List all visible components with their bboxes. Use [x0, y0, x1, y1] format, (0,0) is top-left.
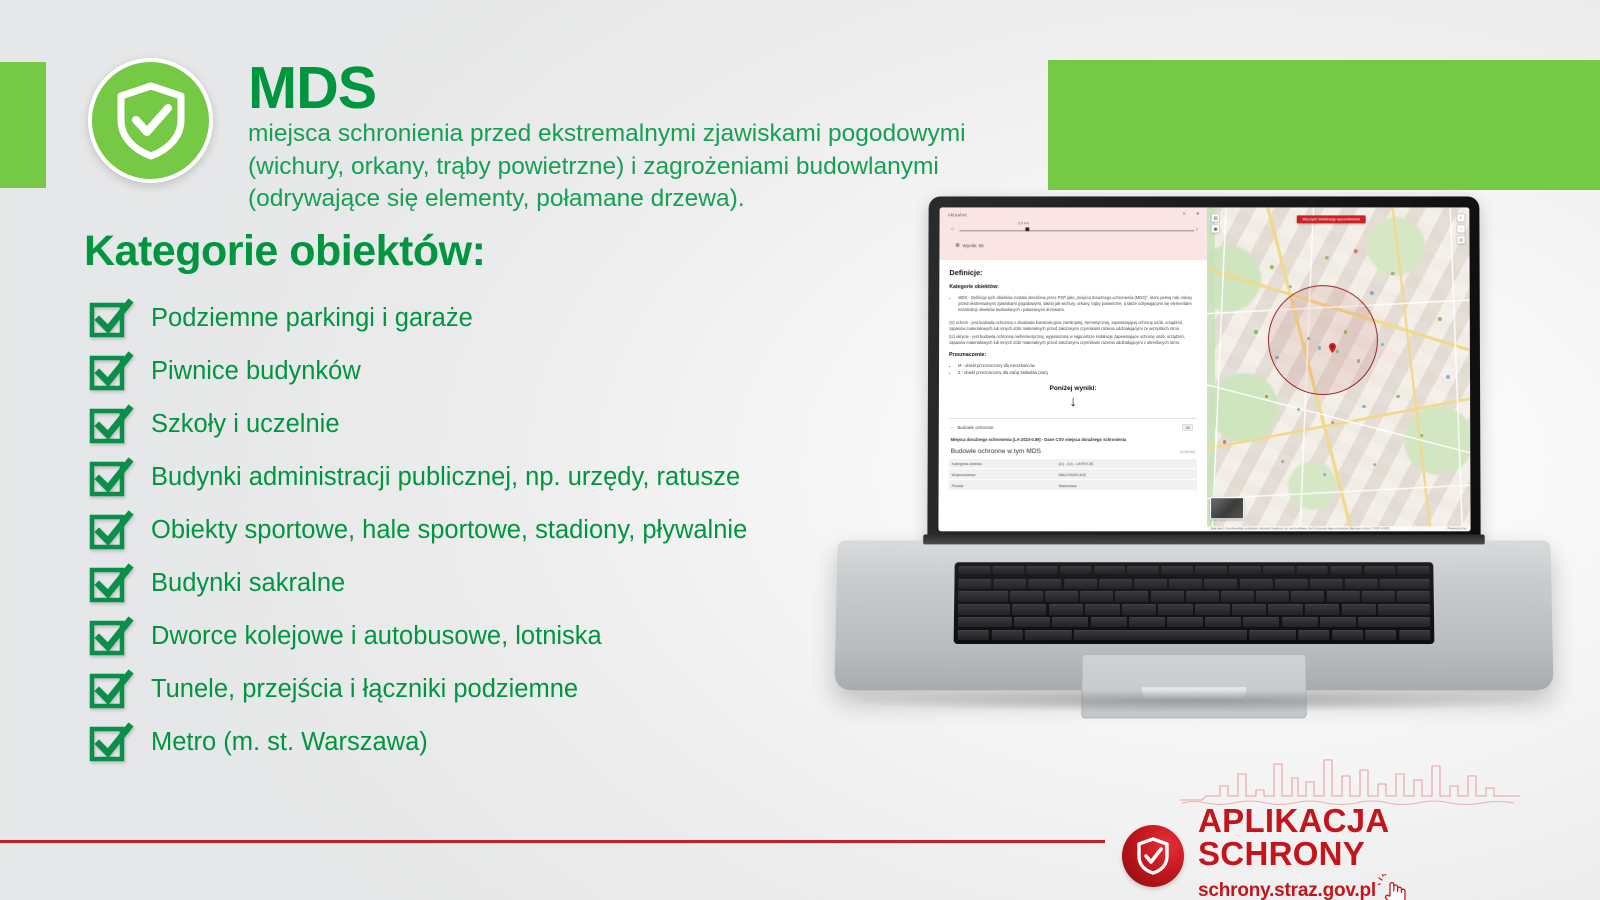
card-title-row: Budowle ochronne w tym MDS (0,05 km)	[949, 448, 1197, 459]
laptop-keyboard	[954, 562, 1435, 644]
minus-icon[interactable]: –	[951, 425, 953, 430]
basemap-thumbnail[interactable]	[1210, 497, 1244, 519]
subtitle-line-1: miejsca schronienia przed ekstremalnymi …	[248, 118, 966, 151]
locate-icon[interactable]: ◎	[1457, 235, 1466, 244]
laptop-shadow	[846, 690, 1546, 712]
definitions-heading: Definicje:	[949, 268, 1197, 277]
card-header-label: Budowle ochronne	[957, 425, 993, 430]
attributes-table: Kategoria obiektu (U) - (U) - UKRYCIE Wo…	[949, 459, 1198, 491]
panel-toolbar: Aktualne ✕ ▼ 0,5 km 0 2 ▦	[939, 207, 1207, 260]
laptop-hinge	[923, 534, 1485, 544]
card-subheader: Miejsca doraźnego schronienia (LA-2023-0…	[949, 431, 1197, 447]
shield-check-icon	[88, 58, 213, 183]
laptop-mockup: Aktualne ✕ ▼ 0,5 km 0 2 ▦	[836, 196, 1552, 736]
shield-check-icon	[1122, 825, 1184, 887]
laptop-screen: Aktualne ✕ ▼ 0,5 km 0 2 ▦	[938, 207, 1470, 531]
decor-bar-right	[1048, 60, 1600, 190]
definitions-bullet-list: MDS - Definicja tych obiektów została ok…	[958, 295, 1197, 313]
definition-bullet: MDS - Definicja tych obiektów została ok…	[958, 295, 1197, 313]
hand-pointer-icon	[1378, 874, 1412, 900]
card-distance: (0,05 km)	[1180, 450, 1195, 454]
filter-icon[interactable]: ▼	[1195, 212, 1200, 217]
table-row: Kategoria obiektu (U) - (U) - UKRYCIE	[949, 459, 1197, 469]
result-card: – Budowle ochronne 65 Miejsca doraźnego …	[949, 418, 1198, 491]
list-item: Metro (m. st. Warszawa)	[88, 716, 918, 769]
grid-icon: ▦	[955, 242, 959, 248]
slider-track[interactable]	[959, 230, 1194, 231]
checkbox-checked-icon	[88, 721, 134, 765]
table-row: Powiat Warszawa	[949, 480, 1198, 491]
results-heading: Poniżej wyniki:	[949, 385, 1197, 392]
categories-list: Podziemne parkingi i garaże Piwnice budy…	[88, 292, 918, 769]
arrow-down-icon: ↓	[949, 396, 1197, 408]
purpose-list: M - obiekt przeznaczony dla mieszkańców …	[958, 363, 1197, 376]
list-item-label: Budynki administracji publicznej, np. ur…	[151, 463, 740, 492]
definitions-body: Definicje: Kategorie obiektów: MDS - Def…	[939, 260, 1208, 491]
map-attribution-left: Map data © OpenStreetMap contributors, M…	[1211, 527, 1389, 530]
slider-value-label: 0,5 km	[1018, 221, 1029, 225]
map-attribution: Map data © OpenStreetMap contributors, M…	[1207, 526, 1470, 531]
table-cell-value: Warszawa	[1055, 480, 1197, 491]
checkbox-checked-icon	[88, 456, 134, 500]
checkbox-checked-icon	[88, 297, 134, 341]
brand-title: APLIKACJA SCHRONY	[1198, 804, 1552, 870]
footer-divider	[0, 840, 1105, 843]
results-row: ▦ Wyniki: 65	[947, 238, 1200, 254]
laptop-base	[834, 540, 1553, 690]
list-item: Dworce kolejowe i autobusowe, lotniska	[88, 610, 918, 663]
app-map[interactable]: Wyczyść lokalizację wyszukiwania ▤ ▣ + –…	[1207, 207, 1470, 531]
purpose-item: Z - obiekt przeznaczony dla załóg zakład…	[958, 370, 1197, 376]
checkbox-checked-icon	[88, 350, 134, 394]
card-header[interactable]: – Budowle ochronne 65	[949, 424, 1197, 431]
list-item-label: Podziemne parkingi i garaże	[151, 304, 473, 333]
table-cell-key: Powiat	[949, 480, 1056, 491]
list-item: Budynki administracji publicznej, np. ur…	[88, 451, 918, 504]
city-skyline-icon	[1180, 756, 1520, 808]
list-item: Szkoły i uczelnie	[88, 398, 918, 451]
minus-icon[interactable]: –	[1456, 224, 1465, 233]
definition-paragraph-ukrycie: (U) ukrycie - jest budowlą ochronną nieh…	[949, 334, 1197, 346]
table-cell-value: (U) - (U) - UKRYCIE	[1055, 459, 1197, 469]
list-item: Podziemne parkingi i garaże	[88, 292, 918, 345]
list-item: Tunele, przejścia i łączniki podziemne	[88, 663, 918, 716]
purpose-subheading: Przeznaczenie:	[949, 352, 1197, 358]
results-count-label: Wyniki: 65	[963, 243, 984, 248]
card-title: Budowle ochronne w tym MDS	[951, 448, 1041, 455]
table-cell-value: MAZOWIECKIE	[1055, 469, 1197, 480]
checkbox-checked-icon	[88, 615, 134, 659]
brand-row: APLIKACJA SCHRONY schrony.straz.gov.pl	[1122, 804, 1552, 900]
list-item-label: Metro (m. st. Warszawa)	[151, 728, 428, 757]
list-item-label: Budynki sakralne	[151, 569, 345, 598]
app-document-panel: Aktualne ✕ ▼ 0,5 km 0 2 ▦	[938, 207, 1207, 531]
categories-subheading: Kategorie obiektów:	[949, 284, 1197, 290]
laptop-lid: Aktualne ✕ ▼ 0,5 km 0 2 ▦	[927, 196, 1480, 548]
card-count-badge: 65	[1182, 424, 1193, 431]
table-cell-key: Kategoria obiektu	[949, 459, 1056, 469]
map-pin-icon[interactable]	[1329, 343, 1336, 353]
list-item-label: Obiekty sportowe, hale sportowe, stadion…	[151, 516, 747, 545]
slider-max-label: 2	[1196, 227, 1198, 231]
radius-slider[interactable]: 0,5 km 0 2	[951, 223, 1198, 234]
table-row: Województwo MAZOWIECKIE	[949, 469, 1198, 480]
list-item: Obiekty sportowe, hale sportowe, stadion…	[88, 504, 918, 557]
brand-url[interactable]: schrony.straz.gov.pl	[1198, 880, 1376, 900]
layers-icon[interactable]: ▤	[1211, 213, 1220, 222]
checkbox-checked-icon	[88, 562, 134, 606]
bookmark-icon[interactable]: ▣	[1211, 224, 1220, 233]
list-item-label: Tunele, przejścia i łączniki podziemne	[151, 675, 578, 704]
map-attribution-right: Powered by Esri	[1448, 527, 1467, 530]
definition-paragraph-schron: (S) schron - jest budowlą ochronną o obu…	[949, 320, 1197, 332]
close-icon[interactable]: ✕	[1182, 212, 1186, 217]
list-item: Budynki sakralne	[88, 557, 918, 610]
subtitle-line-2: (wichury, orkany, trąby powietrzne) i za…	[248, 151, 966, 184]
brand-block: APLIKACJA SCHRONY schrony.straz.gov.pl	[1122, 756, 1552, 876]
checkbox-checked-icon	[88, 509, 134, 553]
list-item-label: Dworce kolejowe i autobusowe, lotniska	[151, 622, 602, 651]
list-item-label: Piwnice budynków	[151, 357, 361, 386]
clear-search-location-button[interactable]: Wyczyść lokalizację wyszukiwania	[1296, 215, 1366, 223]
page-title: MDS	[248, 60, 966, 116]
plus-icon[interactable]: +	[1456, 213, 1465, 222]
slider-min-label: 0	[951, 227, 953, 231]
list-item-label: Szkoły i uczelnie	[151, 410, 340, 439]
checkbox-checked-icon	[88, 668, 134, 712]
decor-bar-left	[0, 62, 46, 188]
panel-title: Aktualne	[948, 212, 967, 217]
checkbox-checked-icon	[88, 403, 134, 447]
list-item: Piwnice budynków	[88, 345, 918, 398]
table-cell-key: Województwo	[949, 469, 1056, 480]
purpose-item: M - obiekt przeznaczony dla mieszkańców	[958, 363, 1197, 369]
search-radius-circle	[1268, 285, 1378, 395]
slider-handle[interactable]	[1025, 228, 1029, 232]
header: MDS miejsca schronienia przed ekstremaln…	[88, 58, 966, 216]
categories-heading: Kategorie obiektów:	[84, 227, 485, 276]
